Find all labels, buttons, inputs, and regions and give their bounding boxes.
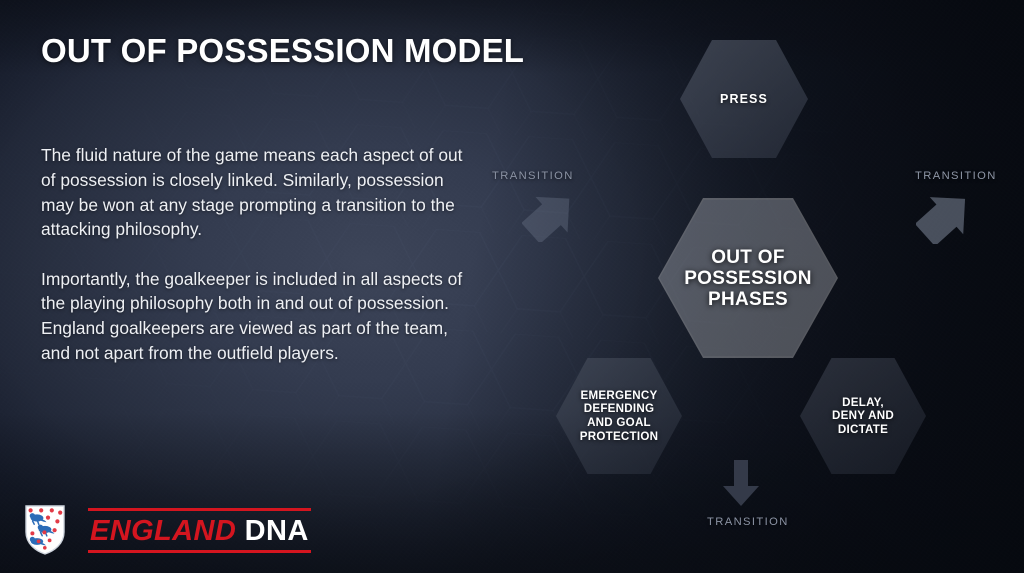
transition-label-left: TRANSITION [492, 170, 574, 182]
page-title: OUT OF POSSESSION MODEL [41, 32, 524, 70]
arrow-up-right-icon-left [522, 190, 578, 242]
hex-phase-press-label: PRESS [720, 92, 768, 106]
transition-label-bottom: TRANSITION [707, 516, 789, 528]
paragraph-2: Importantly, the goalkeeper is included … [41, 267, 466, 365]
paragraph-1: The fluid nature of the game means each … [41, 143, 466, 241]
transition-label-right: TRANSITION [915, 170, 997, 182]
body-copy: The fluid nature of the game means each … [41, 126, 466, 383]
hex-phase-emergency-defending-label: EMERGENCY DEFENDING AND GOAL PROTECTION [580, 389, 659, 443]
wordmark-rule-bottom [88, 550, 311, 553]
wordmark-dna: DNA [236, 515, 309, 547]
england-dna-logo: ENGLAND DNA [24, 504, 311, 556]
arrow-down-icon [722, 460, 760, 506]
three-lions-crest-icon [24, 504, 66, 556]
arrow-up-right-icon-right [916, 190, 974, 244]
hex-phase-delay-deny-dictate-label: DELAY, DENY AND DICTATE [832, 396, 894, 437]
hex-center-fill: OUT OF POSSESSION PHASES [660, 200, 837, 357]
england-dna-wordmark: ENGLAND DNA [88, 508, 311, 553]
slide-out-of-possession-model: OUT OF POSSESSION MODEL The fluid nature… [0, 0, 1024, 573]
wordmark-rule-top [88, 508, 311, 511]
hex-center-out-of-possession-phases[interactable]: OUT OF POSSESSION PHASES [658, 198, 838, 358]
wordmark-england: ENGLAND [90, 515, 236, 547]
hex-center-label: OUT OF POSSESSION PHASES [684, 247, 812, 310]
